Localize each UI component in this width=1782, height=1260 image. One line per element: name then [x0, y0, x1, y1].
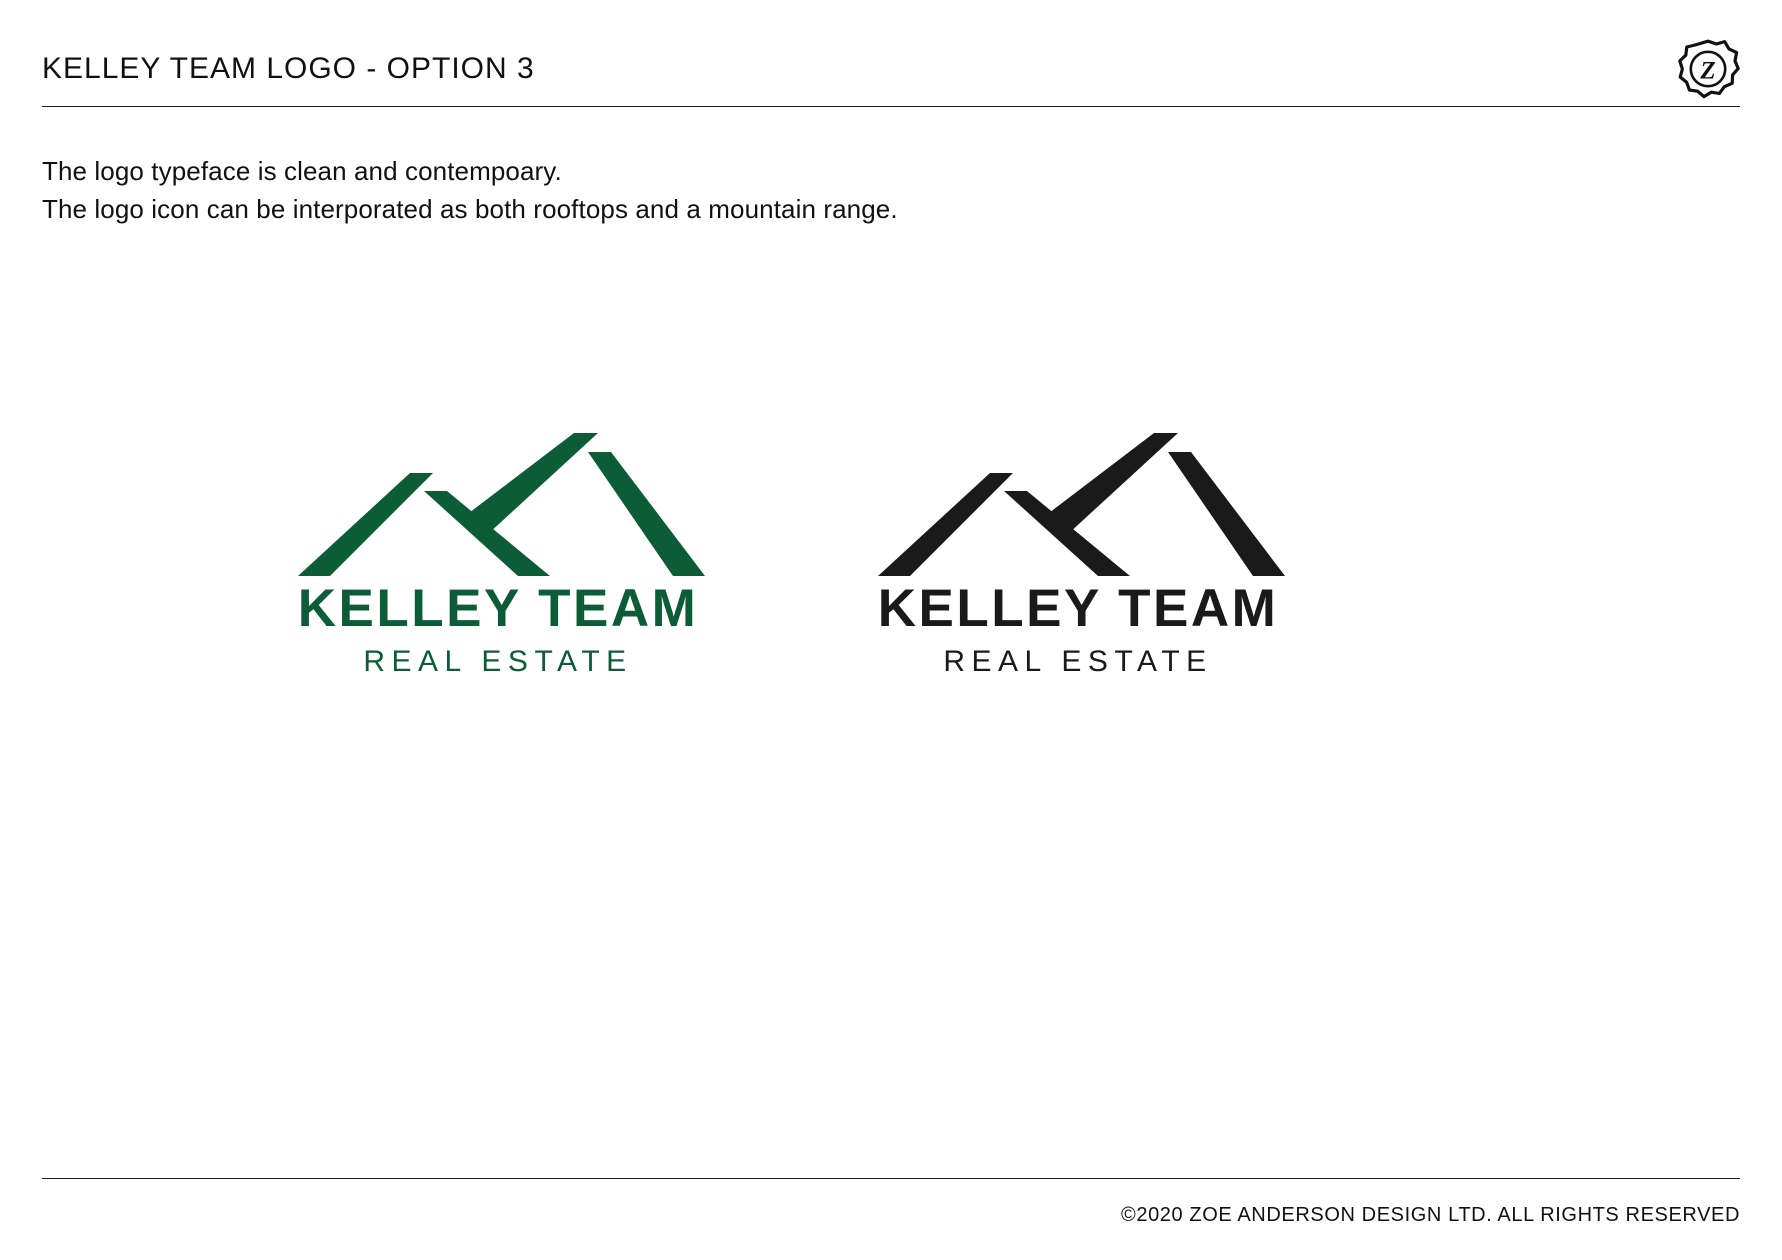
mountain-rooftop-icon-green: [288, 430, 708, 580]
mountain-rooftop-icon-black: [868, 430, 1288, 580]
logo-lockup-group: KELLEY TEAM REAL ESTATE KELLEY TEAM REAL…: [0, 430, 1782, 720]
page-header: KELLEY TEAM LOGO - OPTION 3 Z: [42, 30, 1740, 108]
intro-line-1: The logo typeface is clean and contempoa…: [42, 152, 898, 190]
logo-lockup-green: KELLEY TEAM REAL ESTATE: [288, 430, 708, 720]
logo-lockup-black: KELLEY TEAM REAL ESTATE: [868, 430, 1288, 720]
logo-wordmark-black: KELLEY TEAM: [868, 582, 1288, 635]
page-title: KELLEY TEAM LOGO - OPTION 3: [42, 52, 535, 86]
intro-line-2: The logo icon can be interporated as bot…: [42, 190, 898, 228]
intro-copy: The logo typeface is clean and contempoa…: [42, 152, 898, 228]
zoe-anderson-seal-icon: Z: [1676, 38, 1740, 102]
slide-canvas: KELLEY TEAM LOGO - OPTION 3 Z The logo t…: [0, 0, 1782, 1260]
header-divider: [42, 106, 1740, 107]
logo-tagline-green: REAL ESTATE: [288, 647, 708, 677]
footer-divider: [42, 1178, 1740, 1179]
seal-letter: Z: [1699, 58, 1715, 85]
logo-wordmark-green: KELLEY TEAM: [288, 582, 708, 635]
logo-tagline-black: REAL ESTATE: [868, 647, 1288, 677]
copyright-notice: ©2020 ZOE ANDERSON DESIGN LTD. ALL RIGHT…: [1121, 1204, 1740, 1227]
